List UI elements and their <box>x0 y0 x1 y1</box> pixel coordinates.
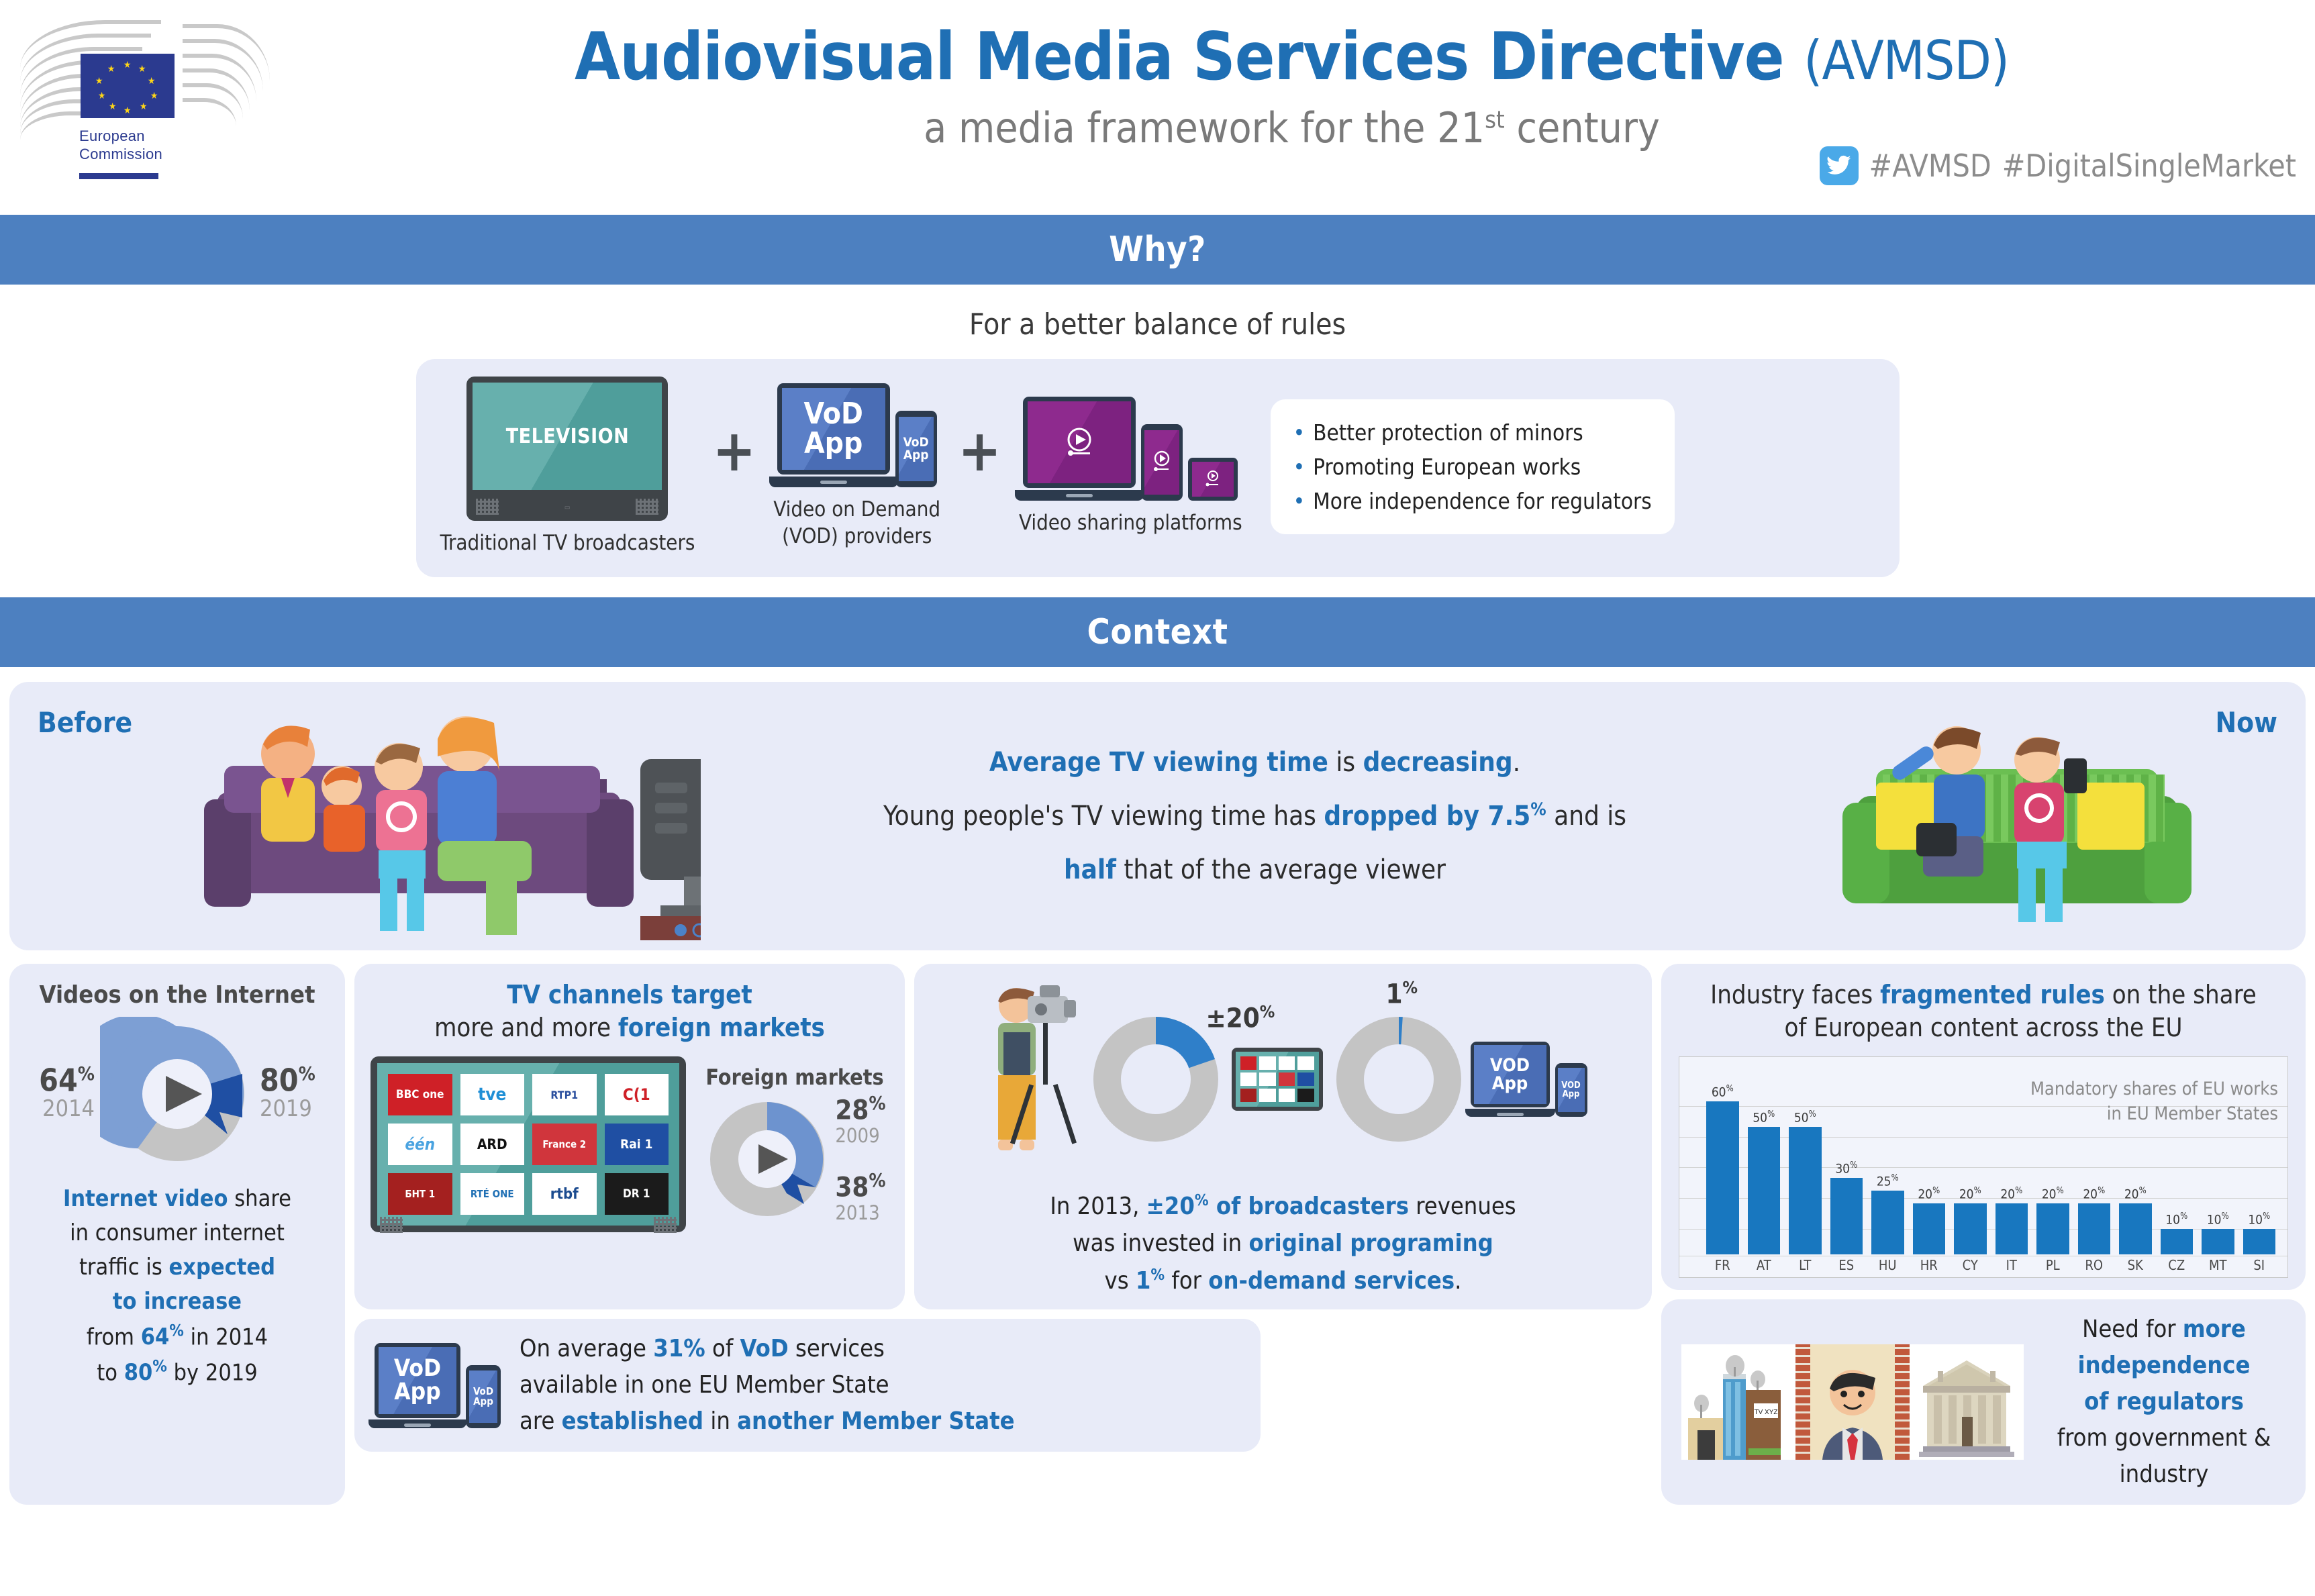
tv-brand-mark: ▭ <box>564 504 571 511</box>
bar-column: 60% <box>1706 1076 1739 1254</box>
tv-speaker-left <box>476 499 499 515</box>
regulator-person-pane <box>1795 1344 1910 1460</box>
bar <box>1706 1101 1739 1254</box>
context-line-3: half that of the average viewer <box>701 843 1809 897</box>
vsp-laptop-base <box>1015 490 1144 501</box>
broadcaster-building-label: TV XYZ <box>1754 1409 1777 1416</box>
vod-label-line1: VoD <box>394 1357 441 1381</box>
foreign-2013-value: 38% <box>835 1171 885 1201</box>
foreign-markets-donut-chart <box>703 1095 831 1223</box>
bar-x-tick-label: CY <box>1954 1257 1987 1273</box>
european-commission-logo: ★ ★ ★ ★ ★ ★ ★ ★ ★ ★ European Commission <box>27 13 275 195</box>
context-comparison-row: Before Now <box>9 682 2306 950</box>
plus-symbol-2: + <box>958 417 1001 485</box>
lower-panels: Videos on the Internet 64% 2014 <box>9 964 2306 1505</box>
bar-column: 20% <box>2036 1076 2069 1254</box>
bar-value-label: 20% <box>1959 1186 1981 1201</box>
context-statistic-text: Average TV viewing time is decreasing. Y… <box>701 736 1809 897</box>
ve-c1: On average <box>520 1335 653 1362</box>
videos-donut-chart <box>100 1017 254 1171</box>
vid-copy-t5: in 2014 <box>184 1324 268 1350</box>
vid-copy-t1: share <box>228 1185 291 1212</box>
bar-value-label: 10% <box>2165 1211 2187 1227</box>
ve-c10: another Member State <box>737 1407 1014 1435</box>
vsp-phone-icon <box>1141 424 1183 501</box>
why-section: For a better balance of rules TELEVISION… <box>0 285 2315 597</box>
why-benefit-item: More independence for regulators <box>1293 484 1652 518</box>
bar <box>2036 1203 2069 1254</box>
vid-copy-t4: from <box>87 1324 141 1350</box>
broadcaster-revenue-panel: ±20% <box>914 964 1652 1309</box>
vod-device-stack: VoD App VoD App <box>777 383 937 487</box>
ctx-l1-bold2: decreasing <box>1363 747 1513 778</box>
ve-c9: in <box>703 1407 737 1435</box>
ctx-l2-pre: Young people's TV viewing time has <box>883 801 1324 832</box>
vod-device-stack-small: VOD App VOD App <box>1471 1042 1587 1117</box>
why-tagline: For a better balance of rules <box>0 307 2315 342</box>
why-benefits-list: Better protection of minors Promoting Eu… <box>1271 399 1675 534</box>
tv-title-bold: TV channels target <box>507 980 752 1009</box>
plus-symbol-1: + <box>712 417 756 485</box>
foreign-2009-year: 2009 <box>835 1124 885 1148</box>
bc-copy-8: 1% <box>1136 1267 1165 1295</box>
vid-copy-t3: traffic is <box>79 1254 169 1281</box>
ctx-l3-post: that of the average viewer <box>1116 854 1446 885</box>
tv-channels-title: TV channels target more and more foreign… <box>371 979 889 1045</box>
channel-logo-bnt1: БНТ 1 <box>388 1173 452 1215</box>
broadcaster-20pct-label: ±20% <box>1206 1002 1275 1034</box>
ve-c7: are <box>520 1407 562 1435</box>
vsp-phone-screen <box>1144 430 1179 495</box>
vod-phone-screen-bottom: VoD App <box>469 1370 497 1423</box>
regulators-copy: Need for more independence of regulators… <box>2042 1311 2285 1493</box>
vod-phone-screen-small: VOD App <box>1558 1068 1585 1112</box>
vsp-tablet-screen <box>1192 462 1234 497</box>
government-building-pane <box>1910 1344 2024 1460</box>
bar-value-label: 20% <box>2124 1186 2147 1201</box>
device-caption-video-sharing: Video sharing platforms <box>1019 510 1242 537</box>
bar-column: 50% <box>1789 1076 1822 1254</box>
ctx-l1-end: . <box>1513 747 1520 778</box>
middle-column: TV channels target more and more foreign… <box>354 964 1652 1505</box>
bar-x-tick-label: LT <box>1789 1257 1822 1273</box>
bar-x-tick-label: FR <box>1706 1257 1739 1273</box>
device-caption-television: Traditional TV broadcasters <box>440 530 695 557</box>
bar-value-label: 60% <box>1712 1084 1734 1099</box>
bc-copy-5: was invested in <box>1073 1230 1248 1257</box>
why-benefit-item: Promoting European works <box>1293 450 1652 484</box>
device-caption-vod: Video on Demand (VOD) providers <box>773 497 940 550</box>
bar-value-label: 25% <box>1877 1173 1899 1189</box>
bar-chart-x-axis: FRATLTESHUHRCYITPLROSKCZMTSI <box>1706 1257 2275 1273</box>
ctx-l1-bold: Average TV viewing time <box>989 747 1328 778</box>
bc-copy-1: In 2013, <box>1050 1193 1146 1220</box>
fr-t1: Industry faces <box>1710 980 1880 1009</box>
bar-x-tick-label: SI <box>2243 1257 2276 1273</box>
couple-with-devices-illustration <box>1809 702 2225 930</box>
regulators-panel: TV XYZ <box>1661 1299 2306 1505</box>
bar-value-label: 20% <box>1918 1186 1940 1201</box>
vod-phone-screen: VoD App <box>899 417 934 481</box>
vod-laptop-screen-small: VOD App <box>1474 1045 1546 1104</box>
bar-x-tick-label: HU <box>1871 1257 1904 1273</box>
title-block: Audiovisual Media Services Directive (AV… <box>282 19 2302 152</box>
page-title-abbrev: (AVMSD) <box>1804 30 2009 92</box>
bar-column: 10% <box>2161 1076 2194 1254</box>
bar <box>1954 1203 1987 1254</box>
videos-2019-value: 80% <box>260 1064 315 1095</box>
vid-copy-80: 80% <box>124 1359 167 1386</box>
regulators-illustration: TV XYZ <box>1681 1344 2024 1460</box>
subtitle-pre: a media framework for the 21 <box>924 103 1485 152</box>
bar-column: 20% <box>1954 1076 1987 1254</box>
bar-x-tick-label: IT <box>1996 1257 2028 1273</box>
bar-x-tick-label: AT <box>1748 1257 1781 1273</box>
fr-t3: on the share <box>2105 980 2257 1009</box>
bc-copy-3: of broadcasters <box>1209 1193 1409 1220</box>
ctx-l2-post: and is <box>1546 801 1626 832</box>
play-circle-icon-small <box>1150 448 1174 477</box>
page-subtitle: a media framework for the 21st century <box>282 103 2302 152</box>
vod-laptop-base-bottom <box>368 1419 466 1428</box>
rp-c4: from government & industry <box>2057 1424 2271 1488</box>
vod-phone-icon-small: VOD App <box>1555 1063 1587 1117</box>
fr-t4: of European content across the EU <box>1784 1013 2182 1042</box>
section-band-context: Context <box>0 597 2315 667</box>
why-benefit-item: Better protection of minors <box>1293 415 1652 450</box>
foreign-markets-donut-title: Foreign markets <box>701 1064 889 1090</box>
vsp-laptop-icon <box>1023 397 1136 501</box>
videos-2019-year: 2019 <box>260 1095 315 1123</box>
device-group-vod: VoD App VoD App Video on Demand (VOD) pr… <box>773 383 940 550</box>
television-icon: TELEVISION ▭ <box>466 377 668 521</box>
bar-value-label: 50% <box>1753 1109 1775 1125</box>
bar <box>1789 1127 1822 1254</box>
fragmented-rules-panel: Industry faces fragmented rules on the s… <box>1661 964 2306 1291</box>
logo-caption: European Commission <box>79 128 162 164</box>
bar <box>2202 1229 2234 1254</box>
vod-device-stack-bottom: VoD App VoD App <box>375 1343 501 1428</box>
page-title-main: Audiovisual Media Services Directive <box>575 19 1784 95</box>
fr-t2: fragmented rules <box>1880 980 2105 1009</box>
bc-copy-10: on-demand services <box>1208 1267 1455 1295</box>
social-handles[interactable]: #AVMSD #DigitalSingleMarket <box>1820 146 2296 185</box>
subtitle-ordinal: st <box>1485 106 1505 134</box>
bar <box>2078 1203 2111 1254</box>
vid-copy-64: 64% <box>141 1324 184 1350</box>
bar-column: 20% <box>1913 1076 1946 1254</box>
bc-copy-9: for <box>1165 1267 1208 1295</box>
page-header: ★ ★ ★ ★ ★ ★ ★ ★ ★ ★ European Commission … <box>0 0 2315 215</box>
right-column: Industry faces fragmented rules on the s… <box>1661 964 2306 1505</box>
section-band-why: Why? <box>0 215 2315 285</box>
tv-logo-wall-small-icon <box>1232 1048 1323 1111</box>
vod-laptop-icon-small: VOD App <box>1471 1042 1550 1117</box>
vod-label-line2: App <box>394 1381 440 1404</box>
bar-value-label: 20% <box>2083 1186 2105 1201</box>
channel-logo-rtp1: RTP1 <box>532 1074 597 1115</box>
subtitle-post: century <box>1505 103 1660 152</box>
bar-column: 25% <box>1871 1076 1904 1254</box>
play-circle-icon <box>1059 422 1099 462</box>
channel-logo-dr1: DR 1 <box>605 1173 669 1215</box>
logo-caption-line2: Commission <box>79 146 162 164</box>
channel-logo-een: één <box>388 1124 452 1165</box>
vod-establishment-copy: On average 31% of VoD services available… <box>520 1331 1015 1440</box>
bar-column: 20% <box>2078 1076 2111 1254</box>
bar-column: 20% <box>2119 1076 2152 1254</box>
context-line-2: Young people's TV viewing time has dropp… <box>701 789 1809 843</box>
vsp-laptop-screen <box>1028 401 1131 483</box>
device-group-video-sharing: Video sharing platforms <box>1019 397 1242 537</box>
channel-logo-grid: BBC one tve RTP1 C(1 één ARD France 2 Ra… <box>377 1063 679 1226</box>
vod-laptop-screen-bottom: VoD App <box>379 1347 456 1414</box>
bar-value-label: 30% <box>1835 1160 1857 1176</box>
bar <box>2119 1203 2152 1254</box>
bc-copy-4: revenues <box>1409 1193 1516 1220</box>
bar-column: 10% <box>2202 1076 2234 1254</box>
tv-title-bold2: foreign markets <box>618 1013 825 1042</box>
bar-column: 30% <box>1830 1076 1863 1254</box>
ve-c6: available in one EU Member State <box>520 1371 889 1399</box>
bc-copy-6: original programing <box>1248 1230 1493 1257</box>
family-watching-tv-illustration <box>110 692 701 940</box>
vod-phone-label-line2: App <box>473 1397 493 1407</box>
ve-c2: 31% <box>653 1335 705 1362</box>
bar-x-tick-label: HR <box>1913 1257 1946 1273</box>
videos-panel-title: Videos on the Internet <box>40 981 315 1009</box>
foreign-2013-year: 2013 <box>835 1201 885 1225</box>
ctx-l2-bold: dropped by 7.5 <box>1324 801 1530 832</box>
bc-copy-7: vs <box>1105 1267 1136 1295</box>
eu-flag-icon: ★ ★ ★ ★ ★ ★ ★ ★ ★ ★ <box>81 54 175 118</box>
videos-on-internet-panel: Videos on the Internet 64% 2014 <box>9 964 345 1505</box>
bar-x-tick-label: MT <box>2202 1257 2234 1273</box>
context-line-1: Average TV viewing time is decreasing. <box>701 736 1809 789</box>
vod-laptop-icon-bottom: VoD App <box>375 1343 460 1428</box>
foreign-2009-value: 28% <box>835 1094 885 1124</box>
tv-logo-wall-icon: BBC one tve RTP1 C(1 één ARD France 2 Ra… <box>371 1056 686 1232</box>
television-screen-label: TELEVISION <box>506 425 629 448</box>
ctx-l1-mid: is <box>1328 747 1363 778</box>
bar <box>1913 1203 1946 1254</box>
page-title: Audiovisual Media Services Directive (AV… <box>282 19 2302 95</box>
ve-c5: services <box>789 1335 885 1362</box>
play-circle-icon-tiny <box>1202 468 1224 491</box>
videos-2014-value: 64% <box>39 1064 95 1095</box>
channel-logo-france2: France 2 <box>532 1124 597 1165</box>
vod-phone-icon: VoD App <box>895 411 937 487</box>
channel-logo-rai1: Rai 1 <box>605 1124 669 1165</box>
ctx-l2-sup: % <box>1530 799 1546 819</box>
ve-c3: of <box>705 1335 740 1362</box>
hashtag-avmsd[interactable]: #AVMSD <box>1869 148 1991 184</box>
cameraman-illustration <box>979 977 1080 1181</box>
bar-x-tick-label: PL <box>2036 1257 2069 1273</box>
bar-value-label: 10% <box>2248 1211 2270 1227</box>
bc-copy-11: . <box>1455 1267 1461 1295</box>
channel-logo-rteone: RTÉ ONE <box>460 1173 525 1215</box>
bar <box>2243 1229 2276 1254</box>
vod-laptop-screen: VoD App <box>782 388 885 470</box>
tv-wall-speaker-right <box>654 1217 677 1233</box>
vid-copy-bold2: expected <box>169 1254 276 1281</box>
vod-establishment-panel: VoD App VoD App On average 3 <box>354 1319 1261 1452</box>
bc-copy-2: ±20% <box>1146 1193 1209 1220</box>
channel-logo-ct1: C(1 <box>605 1074 669 1115</box>
vod-laptop-icon: VoD App <box>777 383 890 487</box>
bar <box>1748 1127 1781 1254</box>
bar-x-tick-label: RO <box>2078 1257 2111 1273</box>
vid-copy-t6: to <box>97 1359 124 1386</box>
bar-value-label: 20% <box>2042 1186 2064 1201</box>
logo-underline <box>79 173 158 179</box>
vid-copy-bold3: to increase <box>113 1288 242 1315</box>
bar-value-label: 50% <box>1794 1109 1816 1125</box>
tv-channels-target-panel: TV channels target more and more foreign… <box>354 964 905 1309</box>
channel-logo-tve: tve <box>460 1074 525 1115</box>
broadcaster-building-pane: TV XYZ <box>1681 1344 1795 1460</box>
videos-2014-year: 2014 <box>39 1095 95 1123</box>
eu-works-bar-chart: Mandatory shares of EU works in EU Membe… <box>1679 1056 2288 1278</box>
videos-panel-copy: Internet video share in consumer interne… <box>63 1182 291 1391</box>
broadcaster-donut-row: ±20% <box>930 977 1636 1181</box>
bar <box>1996 1203 2028 1254</box>
vid-copy-t7: by 2019 <box>167 1359 258 1386</box>
ve-c4: VoD <box>740 1335 789 1362</box>
rp-c1: Need for <box>2082 1315 2183 1343</box>
channel-logo-ard: ARD <box>460 1124 525 1165</box>
bar-x-tick-label: SK <box>2119 1257 2152 1273</box>
twitter-icon[interactable] <box>1820 146 1859 185</box>
ondemand-1pct-label: 1% <box>1386 978 1418 1009</box>
logo-caption-line1: European <box>79 128 162 146</box>
bar-x-tick-label: ES <box>1830 1257 1863 1273</box>
channel-logo-bbcone: BBC one <box>388 1074 452 1115</box>
vsp-tablet-icon <box>1188 458 1238 501</box>
bar-value-label: 20% <box>2000 1186 2022 1201</box>
tv-title-plain: more and more <box>434 1013 618 1042</box>
ctx-l3-bold: half <box>1064 854 1116 885</box>
tv-wall-speaker-left <box>380 1217 403 1233</box>
bar-column: 50% <box>1748 1076 1781 1254</box>
fragmented-rules-title: Industry faces fragmented rules on the s… <box>1661 979 2306 1045</box>
bar <box>2161 1229 2194 1254</box>
bar-value-label: 10% <box>2207 1211 2229 1227</box>
vod-laptop-base <box>769 477 898 487</box>
bar-x-tick-label: CZ <box>2161 1257 2194 1273</box>
channel-logo-rtbf: rtbf <box>532 1173 597 1215</box>
ondemand-1pct-donut: 1% <box>1330 1010 1468 1148</box>
bar-column: 10% <box>2243 1076 2276 1254</box>
why-devices-card: TELEVISION ▭ Traditional TV broadcasters… <box>416 359 1900 577</box>
vid-copy-bold1: Internet video <box>63 1185 228 1212</box>
television-screen: TELEVISION <box>473 383 662 490</box>
device-group-television: TELEVISION ▭ Traditional TV broadcasters <box>440 377 695 557</box>
vod-phone-icon-bottom: VoD App <box>466 1365 501 1428</box>
hashtag-digitalsinglemarket[interactable]: #DigitalSingleMarket <box>2002 148 2296 184</box>
rp-c3: of regulators <box>2084 1388 2244 1415</box>
video-sharing-device-stack <box>1023 397 1238 501</box>
vod-laptop-base-small <box>1465 1109 1555 1117</box>
bar-column: 20% <box>1996 1076 2028 1254</box>
ve-c8: established <box>562 1407 703 1435</box>
bar-series: 60%50%50%30%25%20%20%20%20%20%20%10%10%1… <box>1706 1076 2275 1254</box>
broadcaster-copy: In 2013, ±20% of broadcasters revenues w… <box>930 1188 1636 1300</box>
bar <box>1830 1178 1863 1254</box>
vid-copy-t2: in consumer internet <box>70 1219 285 1246</box>
bar <box>1871 1191 1904 1254</box>
broadcaster-20pct-donut: ±20% <box>1087 1010 1225 1148</box>
tv-speaker-right <box>636 499 658 515</box>
